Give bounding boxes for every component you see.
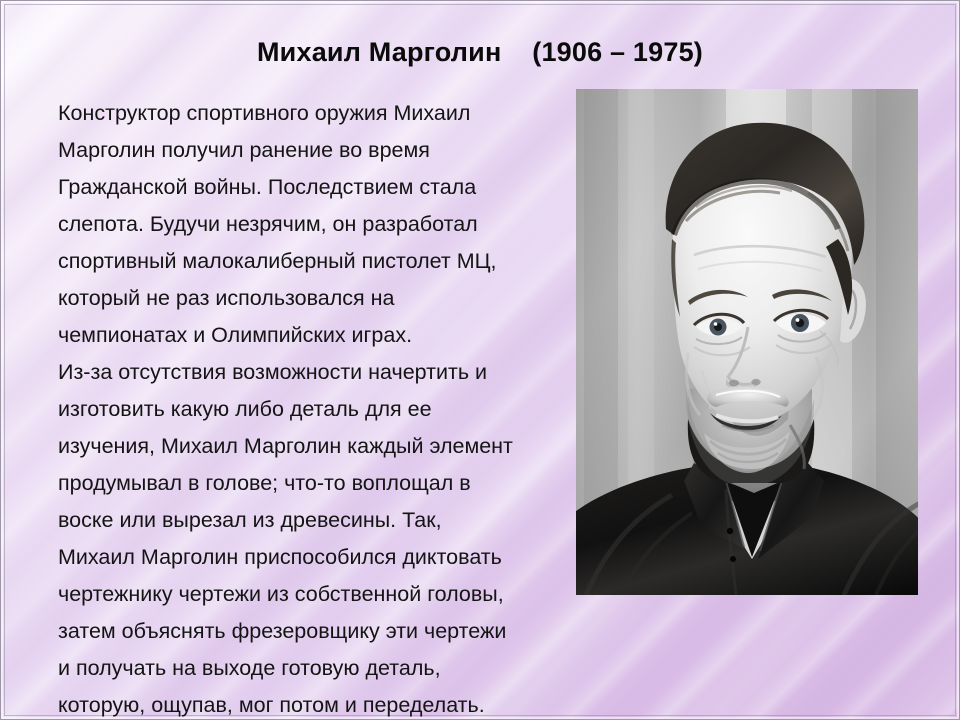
slide-canvas: Михаил Марголин (1906 – 1975) Конструкто… [0,0,960,720]
biography-line: который не раз использовался на [58,280,558,317]
biography-line: и получать на выходе готовую деталь, [58,650,558,687]
biography-line: чертежнику чертежи из собственной головы… [58,576,558,613]
biography-line: изготовить какую либо деталь для ее [58,391,558,428]
portrait-photo [576,89,918,595]
biography-line: которую, ощупав, мог потом и переделать. [58,687,558,720]
biography-line: Из-за отсутствия возможности начертить и [58,354,558,391]
biography-line: Конструктор спортивного оружия Михаил [58,95,558,132]
biography-line: затем объяснять фрезеровщику эти чертежи [58,613,558,650]
page-title: Михаил Марголин (1906 – 1975) [1,37,959,68]
biography-line: изучения, Михаил Марголин каждый элемент [58,428,558,465]
biography-line: чемпионатах и Олимпийских играх. [58,317,558,354]
biography-text-block: Конструктор спортивного оружия МихаилМар… [58,95,558,720]
biography-line: Марголин получил ранение во время [58,132,558,169]
biography-line: спортивный малокалиберный пистолет МЦ, [58,243,558,280]
biography-paragraph: Конструктор спортивного оружия МихаилМар… [58,95,558,354]
biography-line: Михаил Марголин приспособился диктовать [58,539,558,576]
biography-line: слепота. Будучи незрячим, он разработал [58,206,558,243]
biography-line: продумывал в голове; что-то воплощал в [58,465,558,502]
biography-paragraph: Из-за отсутствия возможности начертить и… [58,354,558,720]
biography-line: воске или вырезал из древесины. Так, [58,502,558,539]
biography-line: Гражданской войны. Последствием стала [58,169,558,206]
portrait-photo-image [576,89,918,595]
